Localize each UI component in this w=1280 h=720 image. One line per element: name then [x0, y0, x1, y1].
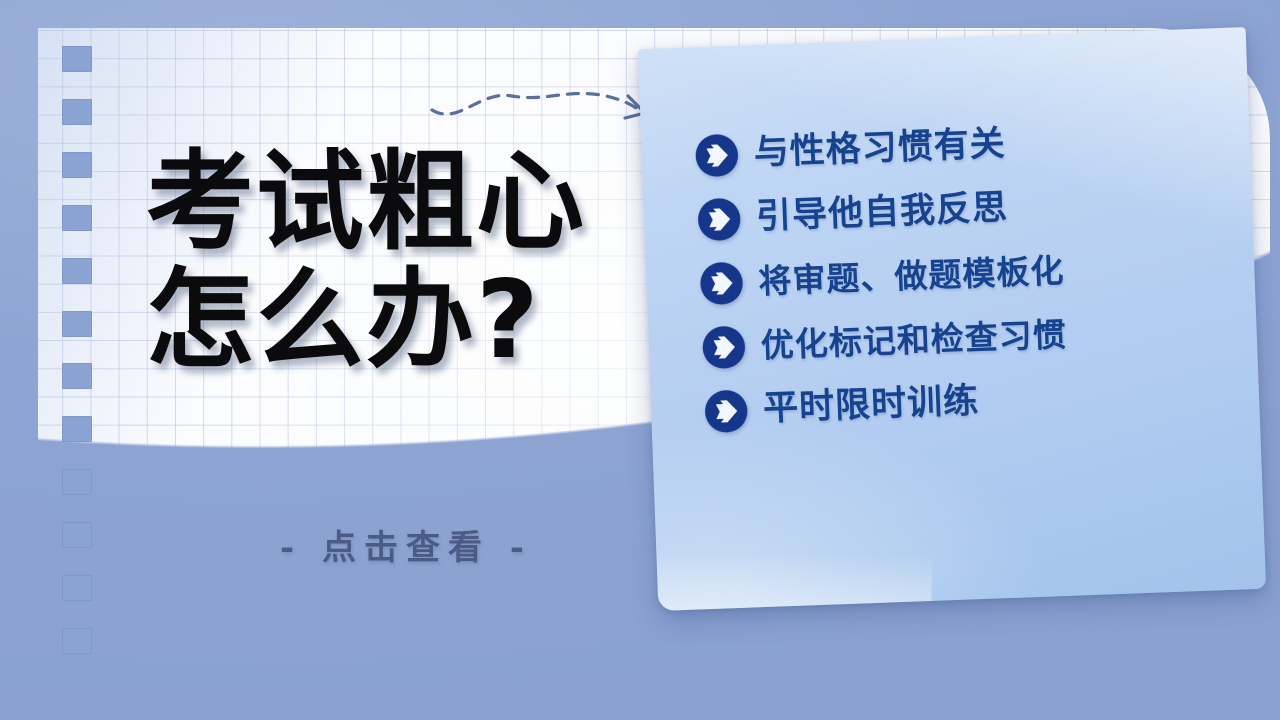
- cta-subtitle[interactable]: - 点击查看 -: [146, 520, 666, 569]
- punch-mark: [62, 311, 92, 337]
- punch-mark: [62, 46, 92, 72]
- punch-mark: [62, 628, 92, 654]
- arrow-right-circle-icon: [695, 196, 743, 244]
- punch-mark: [62, 416, 92, 442]
- punch-mark: [62, 363, 92, 389]
- arrow-right-circle-icon: [700, 324, 748, 372]
- headline-block: 考试粗心 怎么办?: [146, 150, 706, 374]
- punch-mark: [62, 258, 92, 284]
- list-item-label: 引导他自我反思: [755, 190, 1008, 237]
- blue-note-card: 与性格习惯有关 引导他自我反思 将审题、做题模板化: [638, 27, 1266, 611]
- list-item[interactable]: 将审题、做题模板化: [698, 242, 1235, 308]
- punch-mark: [62, 205, 92, 231]
- punch-mark: [62, 99, 92, 125]
- list-item-label: 将审题、做题模板化: [758, 253, 1065, 300]
- punch-mark: [62, 152, 92, 178]
- punch-mark: [62, 575, 92, 601]
- arrow-right-circle-icon: [702, 388, 750, 436]
- arrow-right-circle-icon: [693, 132, 741, 180]
- note-bottom-curl: [651, 550, 932, 611]
- list-item-label: 优化标记和检查习惯: [760, 317, 1067, 364]
- punch-mark-column: [62, 46, 92, 654]
- punch-mark: [62, 469, 92, 495]
- headline-line-1: 考试粗心: [146, 150, 706, 256]
- list-item-label: 平时限时训练: [763, 383, 980, 429]
- poster-canvas: 考试粗心 怎么办? - 点击查看 - 与性格习惯有关 引导他自我反思: [0, 0, 1280, 720]
- arrow-right-circle-icon: [698, 260, 746, 308]
- list-item-label: 与性格习惯有关: [753, 126, 1006, 173]
- tips-list: 与性格习惯有关 引导他自我反思 将审题、做题模板化: [693, 114, 1240, 435]
- dashed-wavy-arrow-icon: [428, 74, 658, 126]
- headline-line-2: 怎么办?: [146, 268, 706, 374]
- list-item[interactable]: 引导他自我反思: [695, 178, 1232, 244]
- punch-mark: [62, 522, 92, 548]
- list-item[interactable]: 优化标记和检查习惯: [700, 306, 1237, 372]
